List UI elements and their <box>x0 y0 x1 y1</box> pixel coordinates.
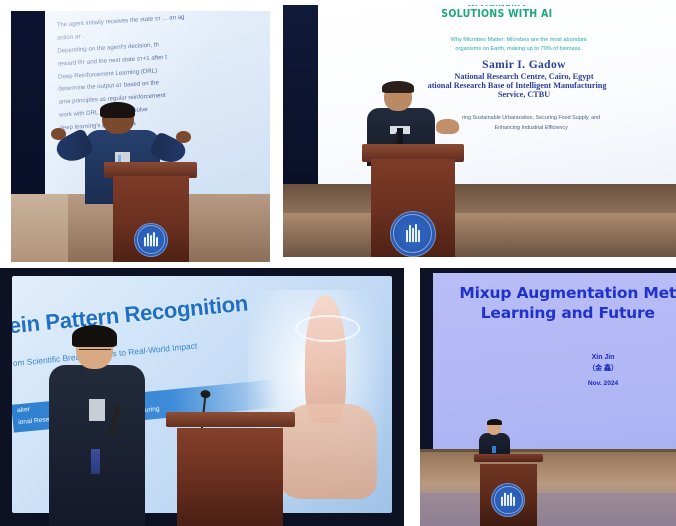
slide-title-block: SUSTAINABLE SOLUTIONS WITH AI <box>343 5 651 20</box>
slide-presenter-name-cn: （金 鑫） <box>545 364 662 375</box>
slide-presenter-name-en: Xin Jin <box>545 353 662 364</box>
photo-top-left: The agent initially receives the state s… <box>11 11 270 262</box>
lectern-top-surface <box>166 412 295 427</box>
stage-rail <box>420 449 676 453</box>
crest-building-icon <box>406 224 420 242</box>
slide-title-line2: Learning and Future <box>440 304 676 323</box>
slide-bullet-4: Deep Reinforcement Learning (DRL) <box>58 58 270 83</box>
stage-floor <box>420 493 676 526</box>
slide-title-cut-line: SUSTAINABLE <box>343 5 651 6</box>
slide-subtitle-line1: Why Microbes Matter: Microbes are the mo… <box>376 36 662 46</box>
university-crest-icon <box>491 483 525 517</box>
handheld-microphone-icon <box>109 403 122 436</box>
slide-bullet-0: The agent initially receives the state s… <box>57 11 269 31</box>
crest-building-icon <box>144 232 158 246</box>
university-crest-icon <box>134 223 168 257</box>
lectern-top-right <box>362 144 464 257</box>
lectern-body <box>480 464 537 526</box>
auditorium-stage-top-right: SUSTAINABLE SOLUTIONS WITH AI Why Microb… <box>283 5 676 257</box>
slide-presenter-block: Xin Jin （金 鑫） Nov. 2024 <box>545 353 662 389</box>
speaker-torso <box>49 365 145 526</box>
lectern-body <box>177 428 283 526</box>
speaker-raised-hand <box>436 119 459 134</box>
projection-screen-bottom-right: Mixup Augmentation Met Learning and Futu… <box>433 273 676 459</box>
speaker-badge <box>91 449 100 475</box>
slide-date: Nov. 2024 <box>545 379 662 389</box>
university-crest-icon <box>390 211 436 257</box>
auditorium-stage-bottom-right: Mixup Augmentation Met Learning and Futu… <box>420 268 676 526</box>
photo-bottom-left: ein Pattern Recognition om Scientific Br… <box>0 268 404 526</box>
slide-affiliation-line1: National Research Centre, Cairo, Egypt <box>376 72 673 81</box>
speaker-hair <box>72 325 116 347</box>
slide-bullet-1: action aт . <box>57 19 269 44</box>
lectern-bottom-right <box>474 454 543 526</box>
slide-bullet-2: Depending on the agent's decision, th <box>57 32 269 57</box>
slide-title-block: Mixup Augmentation Met Learning and Futu… <box>440 284 676 323</box>
slide-bullet-5: determine the output aт based on the <box>58 71 270 96</box>
slide-title: SOLUTIONS WITH AI <box>343 7 651 20</box>
lectern-body <box>113 176 189 262</box>
slide-band-line1: aker <box>17 406 30 414</box>
photo-bottom-right: Mixup Augmentation Met Learning and Futu… <box>420 268 676 526</box>
slide-subtitle-line2: organisms on Earth, making up to 70% of … <box>376 45 662 55</box>
speaker-hair <box>487 419 502 426</box>
speaker-figure <box>53 325 142 526</box>
lectern-body <box>371 159 455 257</box>
stage-dado-band <box>283 184 676 213</box>
speaker-hair <box>382 81 413 93</box>
auditorium-stage-top-left: The agent initially receives the state s… <box>11 11 270 262</box>
speaker-lanyard <box>492 446 496 453</box>
lectern-top-left <box>104 162 197 262</box>
slide-subtitle: Why Microbes Matter: Microbes are the mo… <box>376 36 662 55</box>
stage-wall-lower <box>283 184 676 257</box>
lectern-top-surface <box>474 454 543 463</box>
glasses-icon <box>79 349 111 356</box>
auditorium-stage-bottom-left: ein Pattern Recognition om Scientific Br… <box>0 268 404 526</box>
photo-collage: The agent initially receives the state s… <box>0 0 676 526</box>
speaker-hair <box>100 102 135 118</box>
slide-presenter-name: Samir I. Gadow <box>376 59 673 71</box>
speaker-shirt <box>89 399 104 422</box>
crest-building-icon <box>501 493 515 506</box>
slide-title-line1: Mixup Augmentation Met <box>440 284 676 303</box>
stage-wall-lower <box>420 449 676 526</box>
photo-top-right: SUSTAINABLE SOLUTIONS WITH AI Why Microb… <box>283 5 676 257</box>
slide-bullet-3: reward Rт and the next state sт+1 after … <box>58 45 270 70</box>
lectern-bottom-left <box>166 412 295 526</box>
